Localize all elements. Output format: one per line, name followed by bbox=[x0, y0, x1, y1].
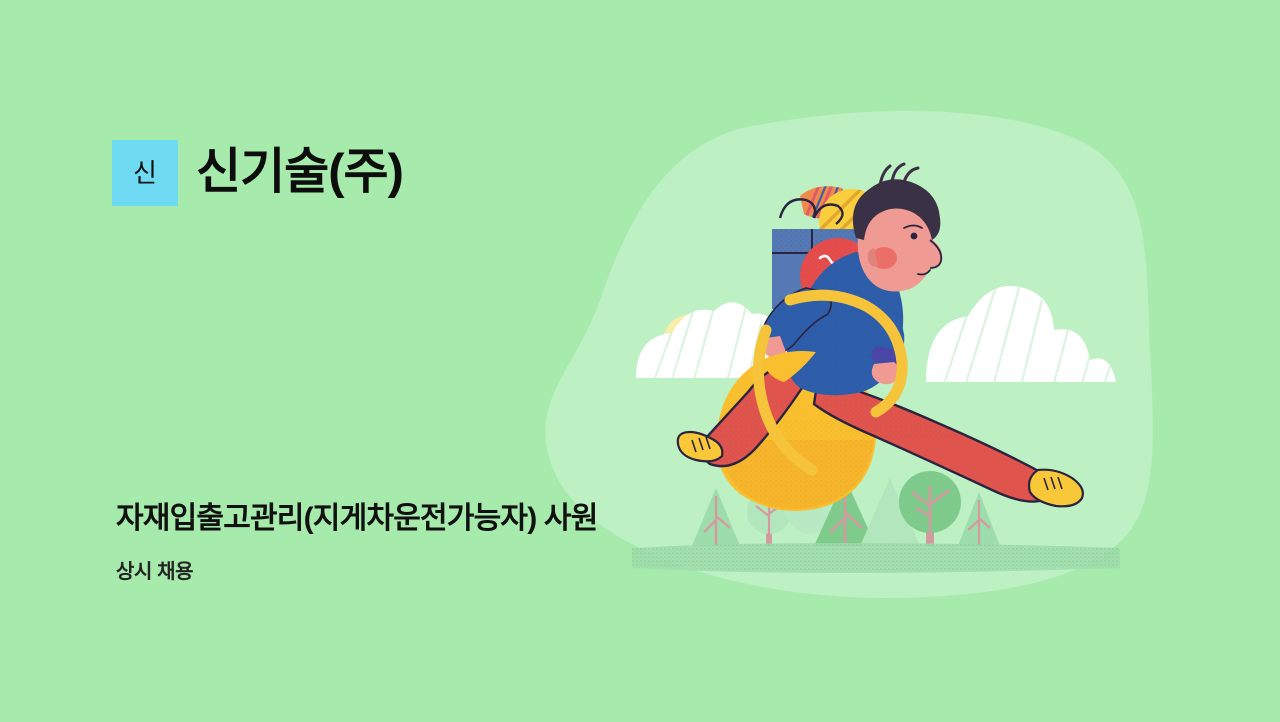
background-blob bbox=[545, 111, 1153, 598]
runner-front-shoe bbox=[1029, 470, 1083, 507]
runner-figure bbox=[678, 164, 1083, 506]
runner-front-arm bbox=[866, 300, 904, 384]
red-pattern-ball bbox=[800, 238, 876, 314]
cloud-left bbox=[630, 300, 806, 396]
runner-head bbox=[853, 164, 942, 292]
runner-torso bbox=[787, 252, 904, 395]
gift-sack bbox=[700, 350, 900, 530]
tree-round bbox=[784, 478, 840, 534]
runner-back-arm bbox=[762, 288, 831, 358]
job-info-block: 자재입출고관리(지게차운전가능자) 사원 상시 채용 bbox=[116, 500, 598, 584]
tree-cone bbox=[692, 488, 740, 546]
hero-illustration bbox=[0, 0, 1280, 722]
company-logo: 신 bbox=[112, 140, 178, 206]
yellow-striped-ball bbox=[818, 184, 890, 266]
tree-cone bbox=[814, 478, 876, 546]
tree-cone bbox=[860, 478, 920, 546]
runner-front-leg bbox=[810, 378, 1060, 502]
background-fill bbox=[0, 0, 1280, 722]
gift-box bbox=[772, 199, 858, 309]
tree-round bbox=[747, 490, 791, 546]
job-title: 자재입출고관리(지게차운전가능자) 사원 bbox=[116, 500, 598, 538]
job-hiring-type: 상시 채용 bbox=[116, 560, 598, 584]
sun-icon bbox=[662, 314, 722, 374]
sack-lip bbox=[762, 351, 816, 382]
runner-back-shoe bbox=[678, 432, 723, 461]
tree-cone bbox=[958, 492, 1000, 546]
ground-strip bbox=[632, 543, 1120, 573]
company-name: 신기술(주) bbox=[196, 147, 403, 198]
runner-back-leg bbox=[690, 362, 830, 470]
ribbon-decoration bbox=[800, 178, 847, 226]
tree-round bbox=[899, 471, 961, 546]
company-header: 신 신기술(주) bbox=[112, 140, 403, 206]
sack-strap bbox=[790, 295, 902, 412]
company-logo-initial: 신 bbox=[133, 160, 157, 186]
cloud-right bbox=[920, 284, 1130, 398]
job-posting-banner: 신 신기술(주) 자재입출고관리(지게차운전가능자) 사원 상시 채용 bbox=[0, 0, 1280, 722]
striped-parcel bbox=[856, 250, 892, 310]
tree-row bbox=[632, 471, 1120, 573]
